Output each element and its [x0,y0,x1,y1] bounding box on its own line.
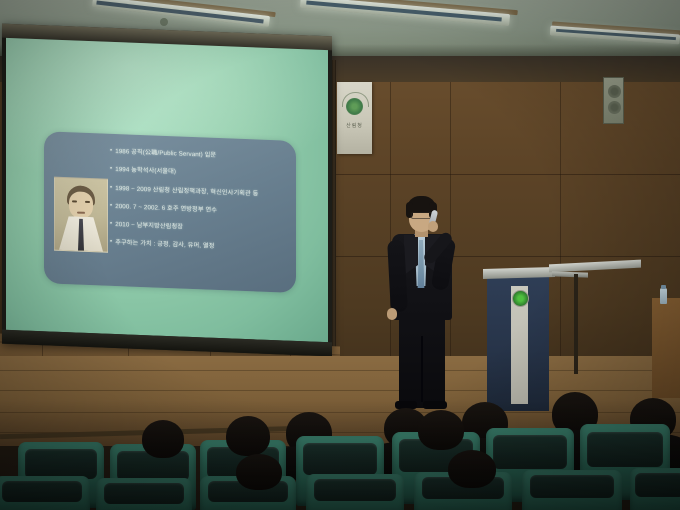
bullet-marker-icon: • [110,221,112,229]
presenter-hand-left [387,308,397,320]
banner-label: 산림청 [337,122,372,129]
bottle-cap [661,285,666,289]
auditorium-seat [96,478,192,510]
seat-headrest [303,443,377,475]
bullet-marker-icon: • [110,184,112,192]
projection-screen: • 1986 공직(公職/Public Servant) 입문 • 1994 농… [2,24,332,357]
slide-bullet-list: • 1986 공직(公職/Public Servant) 입문 • 1994 농… [110,148,290,264]
slide-bullet-item: • 2010 ~ 남부지방산림청장 [110,221,290,236]
wall-panel-line [560,56,561,356]
slide-bullet-item: • 추구하는 가치 : 긍정, 감사, 유머, 열정 [110,239,290,254]
slide-bullet-item: • 1994 농학석사(서울대) [110,166,290,181]
seat-headrest [314,479,396,501]
seat-headrest [530,475,614,498]
lecture-hall-scene: 산림청 [0,0,680,510]
portrait-eye [72,200,77,202]
slide-bullet-text: 2010 ~ 남부지방산림청장 [115,221,183,231]
screen-surface: • 1986 공직(公職/Public Servant) 입문 • 1994 농… [6,38,328,342]
seat-headrest [493,435,567,469]
auditorium-seat [630,468,680,510]
bullet-marker-icon: • [110,203,112,211]
audience-head [236,454,282,490]
slide-portrait-photo [54,177,108,253]
portrait-eye [85,201,90,203]
slide-bullet-text: 2000. 7 ~ 2002. 6 호주 연방정부 연수 [115,203,217,215]
hanging-banner: 산림청 [337,82,372,154]
audience-head [226,416,270,456]
slide-bullet-text: 추구하는 가치 : 긍정, 감사, 유머, 열정 [115,239,214,251]
auditorium-seat [522,470,622,510]
bullet-marker-icon: • [110,148,112,156]
wall-panel-line [330,174,680,175]
slide-content-panel: • 1986 공직(公職/Public Servant) 입문 • 1994 농… [44,131,296,293]
speaker-driver [608,85,621,98]
wall-speaker-icon [603,77,624,124]
speaker-driver [608,101,621,114]
floor-plank-line [0,370,680,371]
presenter [383,196,463,411]
portrait-mouth [77,212,85,214]
auditorium-seat [306,474,404,510]
banner-pole [332,60,336,360]
green-circle-emblem-icon [512,290,529,307]
seat-headrest [587,432,663,467]
slide-bullet-text: 1998 ~ 2009 산림청 산림정책과장, 혁신인사기획관 등 [115,185,258,198]
bullet-marker-icon: • [110,166,112,174]
auditorium-seat [0,476,90,510]
seat-headrest [635,473,680,497]
podium-top-surface [483,267,555,279]
seat-headrest [2,481,83,502]
forest-service-emblem-icon [346,98,363,115]
slide-bullet-item: • 1998 ~ 2009 산림청 산림정책과장, 혁신인사기획관 등 [110,184,290,199]
slide-bullet-text: 1986 공직(公職/Public Servant) 입문 [115,148,216,160]
podium-support-post [574,274,578,374]
slide-bullet-text: 1994 농학석사(서울대) [115,166,176,176]
portrait-face [69,191,93,219]
water-bottle-icon [660,288,667,304]
audience-head [418,410,464,450]
seat-headrest [104,483,185,504]
presenter-hand-right [428,221,438,232]
audience-head [448,450,496,488]
slide-bullet-item: • 1986 공직(公職/Public Servant) 입문 [110,148,290,163]
slide-bullet-item: • 2000. 7 ~ 2002. 6 호주 연방정부 연수 [110,203,290,218]
audience-head [142,420,184,458]
seat-headrest [25,449,97,479]
bullet-marker-icon: • [110,239,112,247]
sprinkler-head-icon [160,18,168,26]
audience-area [0,380,680,510]
